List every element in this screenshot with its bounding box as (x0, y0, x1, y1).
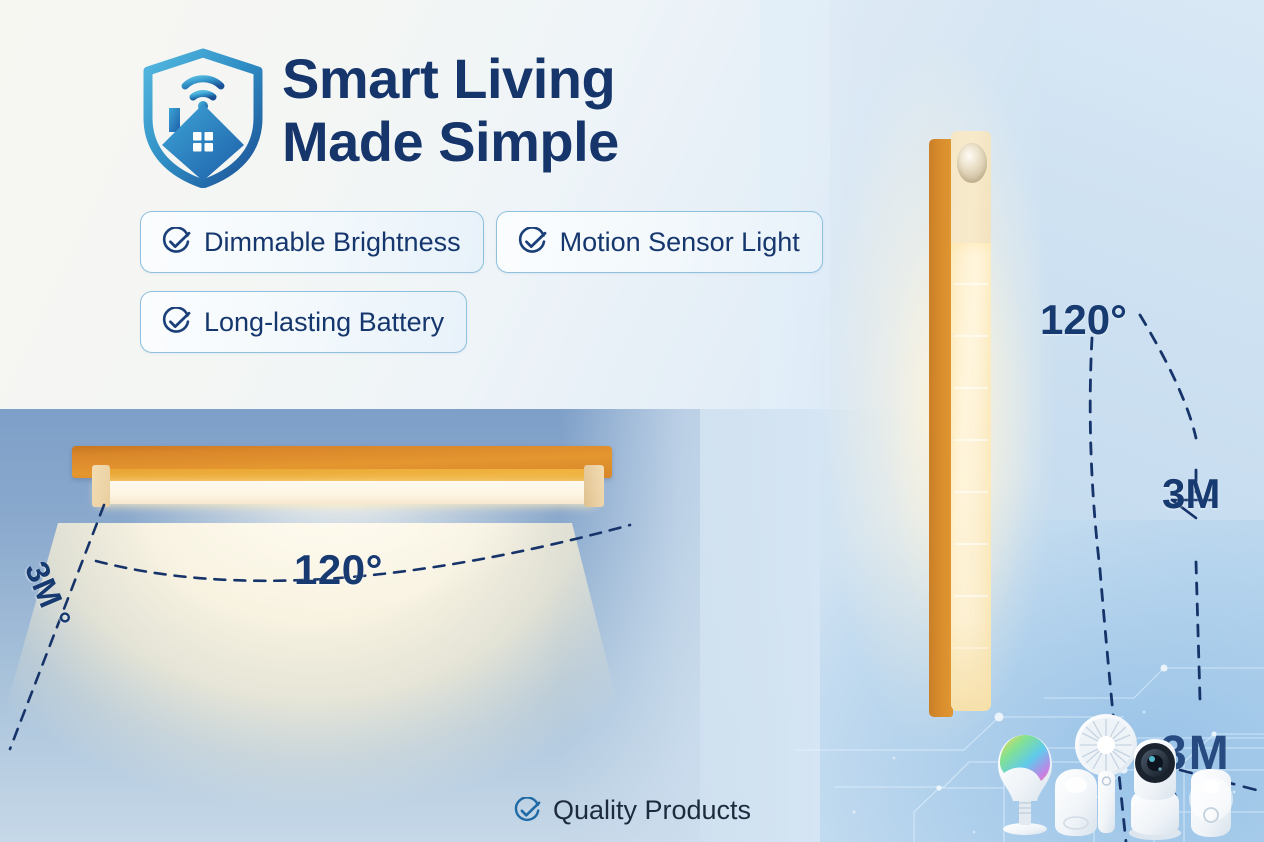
vertical-light-bar (929, 131, 991, 718)
beam-angle-label-left: 120° (294, 546, 383, 594)
motion-sensor-dome-icon (957, 143, 987, 183)
promo-banner: Smart Living Made Simple Dimmable Bright… (0, 0, 1264, 842)
smart-speaker-puck-icon (1055, 769, 1097, 836)
headline-line-2: Made Simple (282, 111, 802, 174)
shield-house-wifi-icon (140, 48, 266, 188)
vertical-light-bar-side (929, 139, 953, 717)
vertical-light-bar-bottom-glow (951, 621, 991, 711)
night-light-icon (1189, 769, 1233, 837)
vertical-light-bar-face (951, 131, 991, 711)
feature-pill-label: Long-lasting Battery (204, 307, 444, 338)
headline-line-1: Smart Living (282, 48, 802, 111)
security-camera-icon (1129, 739, 1181, 840)
feature-pill-long-lasting-battery[interactable]: Long-lasting Battery (140, 291, 467, 353)
beam-annotation-lines-left (0, 409, 700, 842)
feature-pill-label: Dimmable Brightness (204, 227, 461, 258)
feature-pill-motion-sensor-light[interactable]: Motion Sensor Light (496, 211, 823, 273)
feature-pill-row-1: Dimmable Brightness Motion Sensor Light (140, 211, 823, 273)
feature-pill-row-2: Long-lasting Battery (140, 291, 467, 353)
distance-label-right: 3M (1162, 470, 1220, 518)
rgb-smart-bulb-icon (998, 735, 1052, 835)
scene-horizontal-light (0, 409, 700, 842)
feature-pill-label: Motion Sensor Light (560, 227, 800, 258)
page-title: Smart Living Made Simple (282, 48, 802, 173)
product-lineup (995, 707, 1264, 842)
check-circle-icon (161, 307, 191, 337)
check-circle-icon (161, 227, 191, 257)
feature-pill-dimmable-brightness[interactable]: Dimmable Brightness (140, 211, 484, 273)
check-circle-icon (517, 227, 547, 257)
beam-angle-label-right: 120° (1040, 296, 1127, 344)
